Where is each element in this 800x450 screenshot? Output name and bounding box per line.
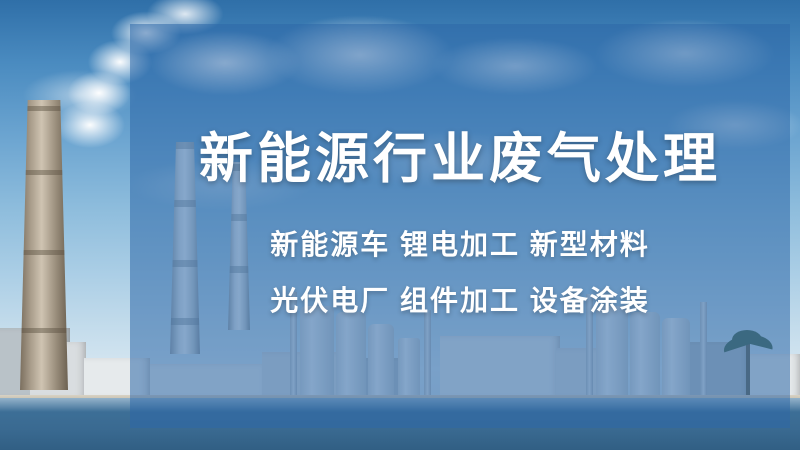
text-overlay-panel: 新能源行业废气处理 新能源车 锂电加工 新型材料 光伏电厂 组件加工 设备涂装 [130, 24, 790, 428]
tall-chimney [20, 100, 68, 390]
banner-subline-2: 光伏电厂 组件加工 设备涂装 [270, 279, 650, 322]
promo-banner: 新能源行业废气处理 新能源车 锂电加工 新型材料 光伏电厂 组件加工 设备涂装 [0, 0, 800, 450]
banner-subline-1: 新能源车 锂电加工 新型材料 [270, 223, 650, 266]
banner-headline: 新能源行业废气处理 [199, 130, 721, 189]
